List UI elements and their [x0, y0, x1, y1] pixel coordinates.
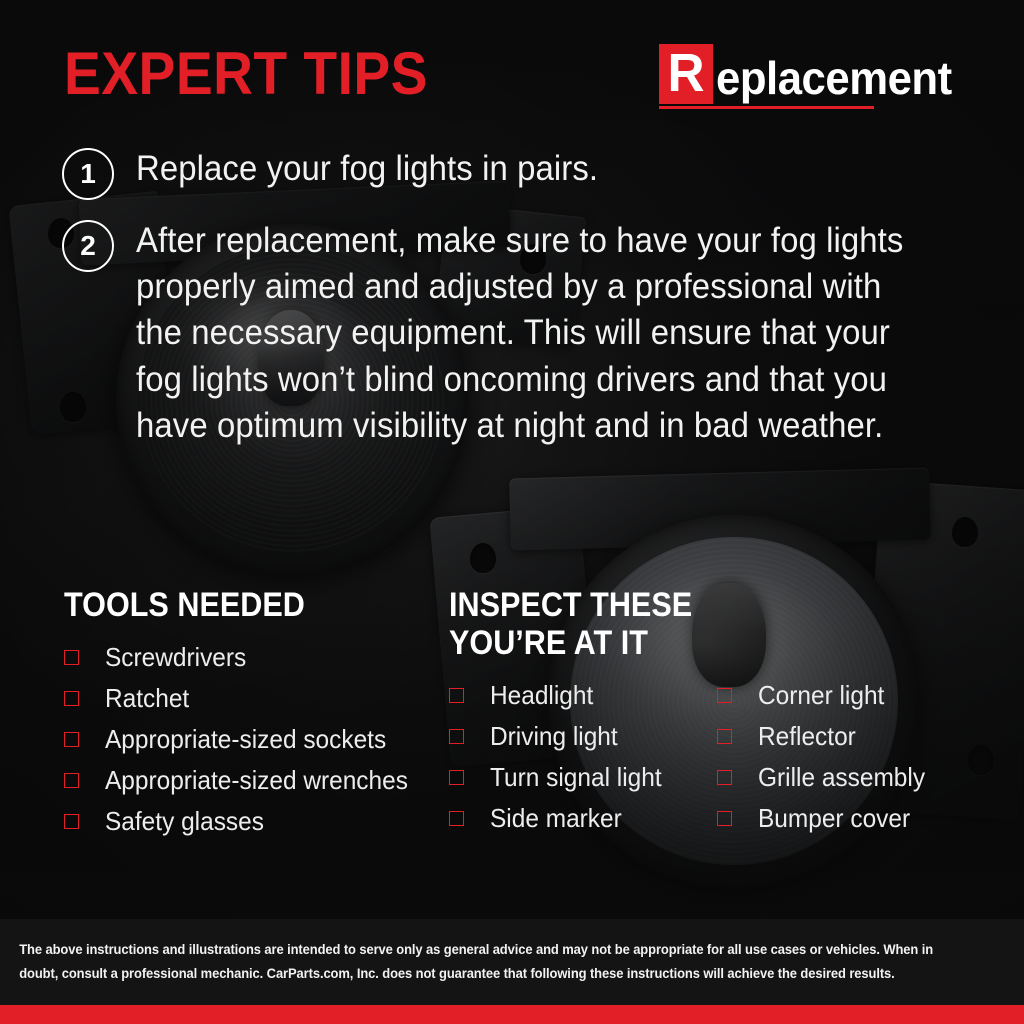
checkbox-icon[interactable]: [449, 811, 464, 826]
lists-section: TOOLS NEEDED Screwdrivers Ratchet Approp…: [64, 586, 984, 847]
checkbox-icon[interactable]: [64, 691, 79, 706]
list-item-label: Reflector: [758, 723, 856, 749]
list-item: Appropriate-sized sockets: [64, 724, 449, 754]
page-title: EXPERT TIPS: [64, 44, 428, 104]
tools-needed-heading: TOOLS NEEDED: [64, 586, 411, 624]
list-item-label: Screwdrivers: [105, 644, 246, 670]
tip-number-badge: 1: [62, 148, 114, 200]
list-item: Turn signal light: [449, 762, 717, 792]
checkbox-icon[interactable]: [717, 688, 732, 703]
brand-name: eplacement: [716, 55, 952, 104]
list-item: Side marker: [449, 803, 717, 833]
tip-number-badge: 2: [62, 220, 114, 272]
list-item: Appropriate-sized wrenches: [64, 765, 449, 795]
inspect-these-column: INSPECT THESE YOU’RE AT IT Headlight Dri…: [449, 586, 984, 847]
list-item-label: Ratchet: [105, 685, 189, 711]
checkbox-icon[interactable]: [717, 811, 732, 826]
list-item-label: Turn signal light: [490, 764, 662, 790]
list-item-label: Safety glasses: [105, 808, 264, 834]
checkbox-icon[interactable]: [449, 770, 464, 785]
checkbox-icon[interactable]: [717, 729, 732, 744]
checkbox-icon[interactable]: [717, 770, 732, 785]
brand-initial: R: [659, 44, 713, 104]
inspect-list-right: Corner light Reflector Grille assembly: [717, 680, 979, 844]
list-item: Reflector: [717, 721, 979, 751]
checkbox-icon[interactable]: [449, 688, 464, 703]
inspect-these-heading: INSPECT THESE YOU’RE AT IT: [449, 586, 931, 662]
list-item: Headlight: [449, 680, 717, 710]
replacement-brand-logo: R eplacement: [659, 44, 964, 109]
tools-needed-column: TOOLS NEEDED Screwdrivers Ratchet Approp…: [64, 586, 449, 847]
tip-text: Replace your fog lights in pairs.: [136, 146, 914, 192]
checkbox-icon[interactable]: [449, 729, 464, 744]
brand-wordmark: R eplacement: [659, 44, 964, 104]
checkbox-icon[interactable]: [64, 732, 79, 747]
tip-item: 1 Replace your fog lights in pairs.: [62, 146, 964, 200]
tools-needed-list: Screwdrivers Ratchet Appropriate-sized s…: [64, 642, 449, 836]
list-item-label: Bumper cover: [758, 805, 910, 831]
checkbox-icon[interactable]: [64, 650, 79, 665]
checkbox-icon[interactable]: [64, 773, 79, 788]
list-item-label: Corner light: [758, 682, 884, 708]
inspect-these-grid: Headlight Driving light Turn signal ligh…: [449, 680, 984, 844]
bottom-accent-bar: [0, 1005, 1024, 1024]
list-item: Grille assembly: [717, 762, 979, 792]
list-item: Screwdrivers: [64, 642, 449, 672]
list-item-label: Side marker: [490, 805, 622, 831]
list-item: Safety glasses: [64, 806, 449, 836]
disclaimer-text: The above instructions and illustrations…: [0, 938, 983, 985]
checkbox-icon[interactable]: [64, 814, 79, 829]
tip-text: After replacement, make sure to have you…: [136, 218, 914, 449]
expert-tips-poster: EXPERT TIPS R eplacement 1 Replace your …: [0, 0, 1024, 1024]
list-item-label: Headlight: [490, 682, 593, 708]
tips-list: 1 Replace your fog lights in pairs. 2 Af…: [62, 146, 964, 467]
list-item: Bumper cover: [717, 803, 979, 833]
tip-item: 2 After replacement, make sure to have y…: [62, 218, 964, 449]
inspect-list-left: Headlight Driving light Turn signal ligh…: [449, 680, 717, 844]
list-item-label: Appropriate-sized wrenches: [105, 767, 408, 793]
list-item: Corner light: [717, 680, 979, 710]
list-item-label: Driving light: [490, 723, 618, 749]
list-item-label: Appropriate-sized sockets: [105, 726, 386, 752]
list-item-label: Grille assembly: [758, 764, 925, 790]
footer-disclaimer-bar: The above instructions and illustrations…: [0, 919, 1024, 1005]
poster-content: EXPERT TIPS R eplacement 1 Replace your …: [0, 0, 1024, 1024]
list-item: Ratchet: [64, 683, 449, 713]
brand-underline: [659, 106, 874, 109]
list-item: Driving light: [449, 721, 717, 751]
